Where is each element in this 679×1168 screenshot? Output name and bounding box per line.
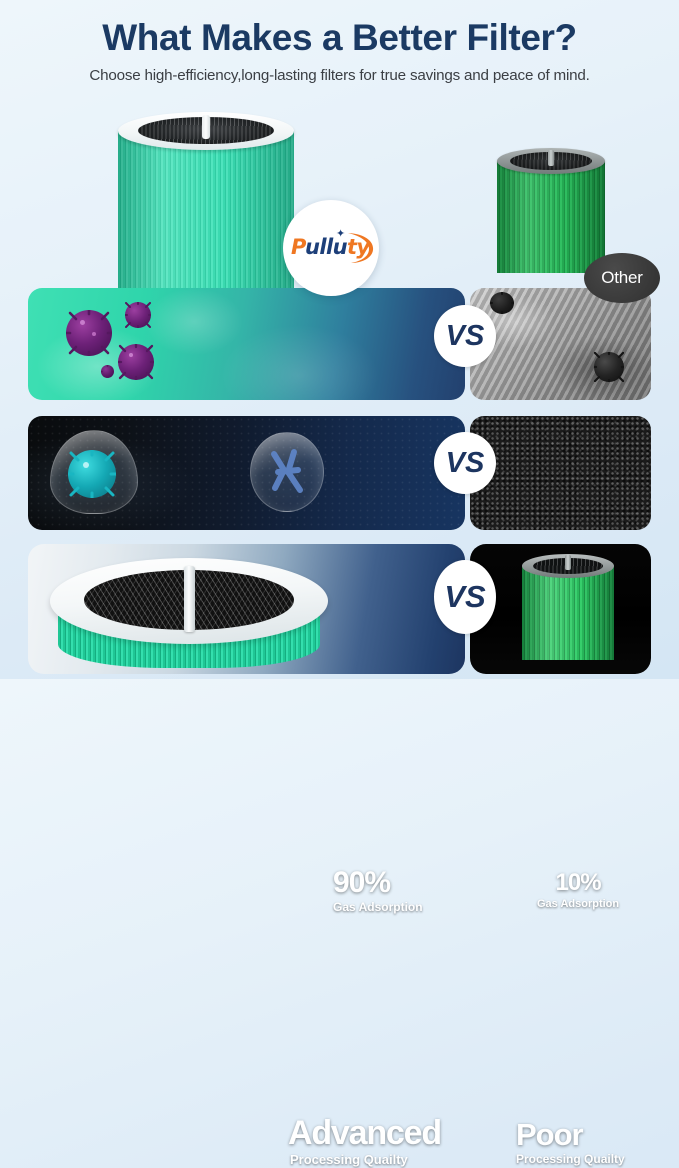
- page-subtitle: Choose high-efficiency,long-lasting filt…: [0, 67, 679, 84]
- gas-molecule-icon: [264, 446, 312, 500]
- virus-particle-gray: [594, 352, 624, 382]
- logo-text-ty: ty: [347, 235, 370, 259]
- our-filter-image: [118, 112, 294, 308]
- virus-particle: [66, 310, 112, 356]
- filter-cross-bar: [184, 566, 195, 632]
- our-gas-label: Gas Adsorption: [333, 901, 423, 915]
- virus-particle-cyan: [68, 450, 116, 498]
- brand-logo-text: Pulluty: [291, 235, 369, 259]
- row1-left-panel: [28, 288, 465, 400]
- virus-particle: [125, 302, 151, 328]
- our-gas-value: 90%: [333, 868, 423, 898]
- comparison-row-processing-quality: Advanced Processing Quailty Poor Process…: [0, 544, 679, 674]
- other-brand-badge: Other: [584, 253, 660, 303]
- our-quality-stat: Advanced Processing Quailty: [288, 1116, 441, 1168]
- their-quality-value: Poor: [516, 1119, 625, 1150]
- vs-badge-processing-quality: VS: [434, 560, 496, 634]
- virus-particle-gray: [490, 292, 514, 314]
- header: What Makes a Better Filter? Choose high-…: [0, 0, 679, 84]
- sparkle-icon: ✦: [336, 229, 345, 240]
- page-title: What Makes a Better Filter?: [0, 18, 679, 58]
- our-quality-value: Advanced: [288, 1116, 441, 1150]
- our-quality-label: Processing Quailty: [290, 1153, 441, 1168]
- competitor-pleated-body: [497, 161, 605, 273]
- competitor-pleat-body: [522, 566, 614, 660]
- brand-logo-badge: Pulluty ✦: [283, 200, 379, 296]
- filter-pleated-body: [118, 131, 294, 303]
- row2-right-panel: [470, 416, 651, 530]
- row2-left-panel: [28, 416, 465, 530]
- our-gas-stat: 90% Gas Adsorption: [333, 868, 423, 915]
- comparison-row-filtration: 99.99% Filtration Efficiency 87% Filtrat…: [0, 288, 679, 400]
- vs-badge-filtration: VS: [434, 305, 496, 367]
- logo-text-p: P: [291, 235, 305, 259]
- row3-left-panel: [28, 544, 465, 674]
- their-quality-label: Processing Quailty: [516, 1153, 625, 1167]
- virus-particle: [118, 344, 154, 380]
- their-gas-label: Gas Adsorption: [537, 898, 619, 911]
- competitor-handle: [565, 555, 571, 570]
- row3-right-panel: [470, 544, 651, 674]
- competitor-handle: [548, 150, 554, 166]
- their-gas-stat: 10% Gas Adsorption: [537, 871, 619, 911]
- vs-badge-gas-adsorption: VS: [434, 432, 496, 494]
- virus-particle: [101, 365, 114, 378]
- their-gas-value: 10%: [537, 871, 619, 895]
- competitor-filter-small-image: [522, 554, 614, 662]
- filter-handle: [202, 115, 210, 139]
- our-filter-topdown-image: [50, 558, 328, 670]
- row1-right-panel: [470, 288, 651, 400]
- their-quality-stat: Poor Processing Quailty: [516, 1119, 625, 1167]
- comparison-row-gas-adsorption: 90% Gas Adsorption 10% Gas Adsorption: [0, 416, 679, 530]
- competitor-filter-image: [497, 148, 605, 276]
